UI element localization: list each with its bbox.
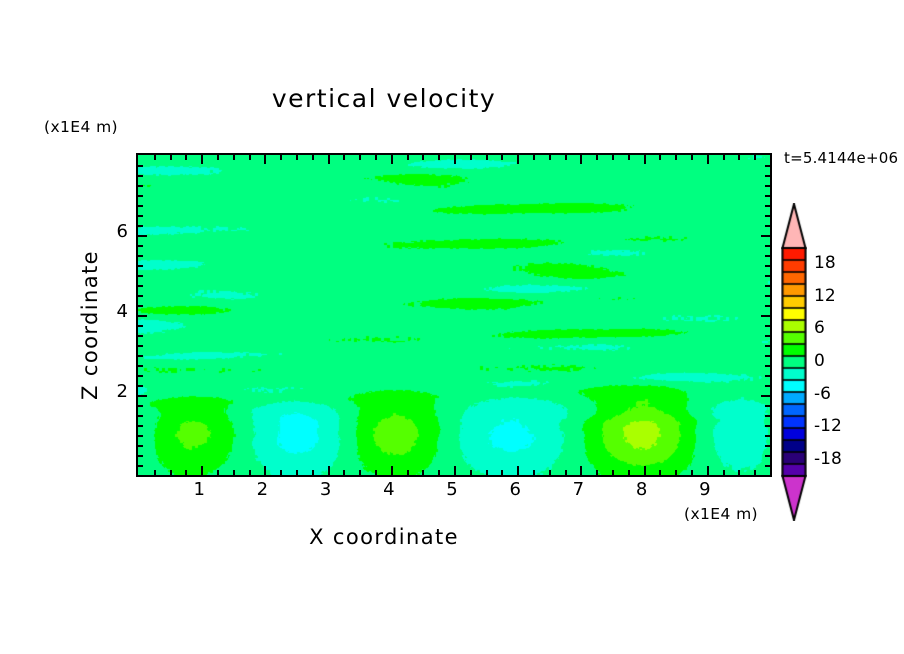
colorbar-tick-label: 6: [814, 318, 825, 338]
x-tick-top: [359, 155, 361, 160]
x-tick-label: 8: [622, 479, 662, 500]
x-tick-label: 9: [685, 479, 725, 500]
z-tick-right: [765, 215, 770, 217]
x-tick-top: [644, 155, 646, 164]
x-tick: [723, 470, 725, 475]
x-tick: [691, 470, 693, 475]
z-tick-right: [765, 275, 770, 277]
x-tick: [454, 466, 456, 475]
z-tick: [138, 275, 143, 277]
z-tick-right: [765, 325, 770, 327]
x-tick: [407, 470, 409, 475]
z-tick: [138, 185, 143, 187]
x-tick-top: [407, 155, 409, 160]
x-tick-top: [249, 155, 251, 160]
z-tick: [138, 165, 143, 167]
x-tick-top: [154, 155, 156, 160]
z-tick: [138, 385, 143, 387]
x-tick-top: [201, 155, 203, 164]
z-tick-right: [765, 375, 770, 377]
z-tick-right: [761, 235, 770, 237]
z-tick: [138, 315, 147, 317]
x-tick: [233, 470, 235, 475]
x-tick: [185, 470, 187, 475]
colorbar-tick-label: -12: [814, 416, 842, 436]
z-tick: [138, 435, 143, 437]
z-tick-right: [765, 385, 770, 387]
x-tick: [201, 466, 203, 475]
x-tick-label: 5: [432, 479, 472, 500]
x-tick: [580, 466, 582, 475]
x-tick: [596, 470, 598, 475]
x-tick-label: 2: [242, 479, 282, 500]
z-tick: [138, 175, 143, 177]
z-tick: [138, 425, 143, 427]
x-tick-top: [549, 155, 551, 160]
z-tick: [138, 245, 143, 247]
x-tick: [754, 470, 756, 475]
z-tick: [138, 305, 143, 307]
z-tick-right: [765, 255, 770, 257]
x-tick: [470, 470, 472, 475]
z-tick-right: [765, 175, 770, 177]
x-tick: [217, 470, 219, 475]
x-tick-top: [707, 155, 709, 164]
colorbar-tick-label: 12: [814, 286, 836, 306]
colorbar: [781, 203, 807, 521]
colorbar-gradient: [781, 203, 807, 521]
x-tick: [628, 470, 630, 475]
x-tick: [501, 470, 503, 475]
x-tick-label: 6: [495, 479, 535, 500]
z-tick-right: [765, 465, 770, 467]
z-tick-right: [765, 405, 770, 407]
z-tick-right: [765, 165, 770, 167]
x-tick-top: [486, 155, 488, 160]
colorbar-tick-label: 0: [814, 351, 825, 371]
z-tick-right: [765, 445, 770, 447]
z-tick: [138, 205, 143, 207]
z-tick: [138, 285, 143, 287]
x-tick-top: [723, 155, 725, 160]
z-tick-right: [765, 425, 770, 427]
x-tick: [438, 470, 440, 475]
z-tick: [138, 345, 143, 347]
z-tick-right: [765, 265, 770, 267]
colorbar-tick-label: -18: [814, 449, 842, 469]
x-tick: [644, 466, 646, 475]
z-tick: [138, 465, 143, 467]
x-tick: [612, 470, 614, 475]
x-tick-top: [438, 155, 440, 160]
z-tick-right: [765, 345, 770, 347]
z-tick: [138, 225, 143, 227]
x-axis-unit-label: (x1E4 m): [684, 505, 758, 523]
x-tick-label: 4: [369, 479, 409, 500]
x-tick-top: [628, 155, 630, 160]
x-tick-top: [517, 155, 519, 164]
x-tick-top: [296, 155, 298, 160]
z-tick: [138, 335, 143, 337]
z-tick: [138, 365, 143, 367]
x-tick-top: [675, 155, 677, 160]
z-tick-right: [765, 295, 770, 297]
z-tick: [138, 405, 143, 407]
x-tick-top: [454, 155, 456, 164]
x-tick-top: [501, 155, 503, 160]
x-tick-top: [565, 155, 567, 160]
z-tick: [138, 375, 143, 377]
x-tick-label: 3: [306, 479, 346, 500]
x-tick-top: [533, 155, 535, 160]
x-tick: [549, 470, 551, 475]
x-tick-top: [264, 155, 266, 164]
z-tick-right: [765, 245, 770, 247]
x-tick: [422, 470, 424, 475]
x-tick-top: [738, 155, 740, 160]
x-tick-top: [185, 155, 187, 160]
x-tick-top: [391, 155, 393, 164]
z-tick: [138, 235, 147, 237]
x-tick-label: 7: [558, 479, 598, 500]
x-tick: [343, 470, 345, 475]
x-tick: [707, 466, 709, 475]
x-tick: [659, 470, 661, 475]
x-tick: [359, 470, 361, 475]
z-tick: [138, 265, 143, 267]
z-tick-right: [765, 455, 770, 457]
z-tick-right: [761, 315, 770, 317]
x-tick-top: [596, 155, 598, 160]
z-tick: [138, 445, 143, 447]
x-tick: [328, 466, 330, 475]
colorbar-tick-label: -6: [814, 384, 831, 404]
z-tick: [138, 355, 143, 357]
z-tick-right: [765, 335, 770, 337]
z-tick: [138, 455, 143, 457]
vertical-velocity-field: [138, 155, 770, 475]
z-tick: [138, 215, 143, 217]
x-tick-top: [170, 155, 172, 160]
x-tick-top: [328, 155, 330, 164]
x-tick-top: [691, 155, 693, 160]
x-tick-top: [470, 155, 472, 160]
z-tick-right: [765, 365, 770, 367]
x-tick: [486, 470, 488, 475]
x-tick: [517, 466, 519, 475]
colorbar-tick-label: 18: [814, 253, 836, 273]
z-tick: [138, 325, 143, 327]
x-tick-top: [343, 155, 345, 160]
page-title: vertical velocity: [0, 84, 768, 113]
timestamp-annotation: t=5.4144e+06: [784, 149, 898, 167]
z-tick-right: [765, 185, 770, 187]
x-tick: [280, 470, 282, 475]
x-tick-top: [580, 155, 582, 164]
z-tick-right: [765, 435, 770, 437]
x-tick: [565, 470, 567, 475]
x-tick: [675, 470, 677, 475]
x-tick-top: [312, 155, 314, 160]
z-tick: [138, 295, 143, 297]
x-tick: [312, 470, 314, 475]
z-tick: [138, 415, 143, 417]
z-tick: [138, 255, 143, 257]
x-tick: [533, 470, 535, 475]
z-axis-unit-label: (x1E4 m): [44, 118, 118, 136]
x-tick-top: [612, 155, 614, 160]
z-tick-right: [765, 355, 770, 357]
x-tick: [391, 466, 393, 475]
x-tick: [738, 470, 740, 475]
x-tick: [154, 470, 156, 475]
z-axis-title: Z coordinate: [78, 215, 102, 435]
x-tick-top: [233, 155, 235, 160]
z-tick-right: [765, 305, 770, 307]
x-tick-top: [280, 155, 282, 160]
x-tick: [264, 466, 266, 475]
x-tick-top: [422, 155, 424, 160]
x-tick: [375, 470, 377, 475]
z-tick-right: [765, 205, 770, 207]
x-tick: [170, 470, 172, 475]
z-tick: [138, 395, 147, 397]
z-tick-label: 6: [88, 221, 128, 242]
x-tick-top: [659, 155, 661, 160]
x-tick-top: [217, 155, 219, 160]
z-tick-label: 2: [88, 381, 128, 402]
z-tick-right: [765, 415, 770, 417]
z-tick-right: [765, 225, 770, 227]
x-tick-label: 1: [179, 479, 219, 500]
x-tick-top: [754, 155, 756, 160]
x-tick: [249, 470, 251, 475]
z-tick-right: [765, 285, 770, 287]
x-tick: [296, 470, 298, 475]
contour-plot-frame: [136, 153, 772, 477]
z-tick-right: [761, 395, 770, 397]
z-tick: [138, 195, 143, 197]
x-tick-top: [375, 155, 377, 160]
z-tick-right: [765, 195, 770, 197]
z-tick-label: 4: [88, 301, 128, 322]
x-axis-title: X coordinate: [0, 525, 768, 549]
